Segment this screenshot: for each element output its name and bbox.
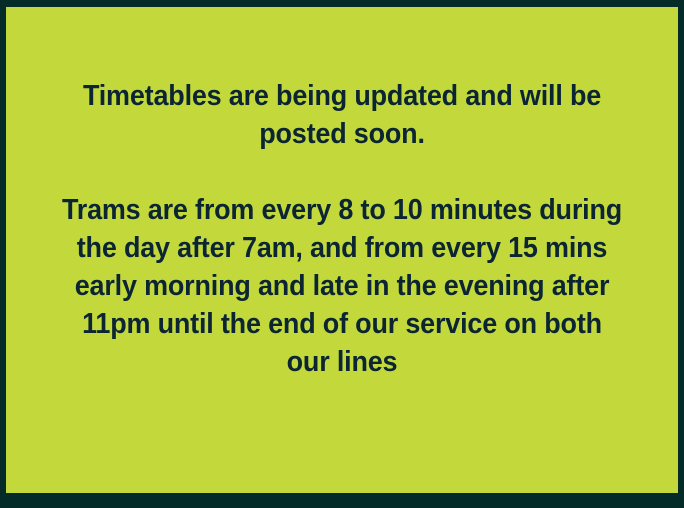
paragraph-spacer [36, 153, 648, 191]
tram-frequency-notice: Trams are from every 8 to 10 minutes dur… [57, 191, 626, 381]
notice-text-block: Timetables are being updated and will be… [6, 77, 678, 381]
notice-panel: Timetables are being updated and will be… [6, 7, 678, 493]
notice-frame: Timetables are being updated and will be… [0, 0, 684, 508]
timetable-update-notice: Timetables are being updated and will be… [57, 77, 626, 153]
